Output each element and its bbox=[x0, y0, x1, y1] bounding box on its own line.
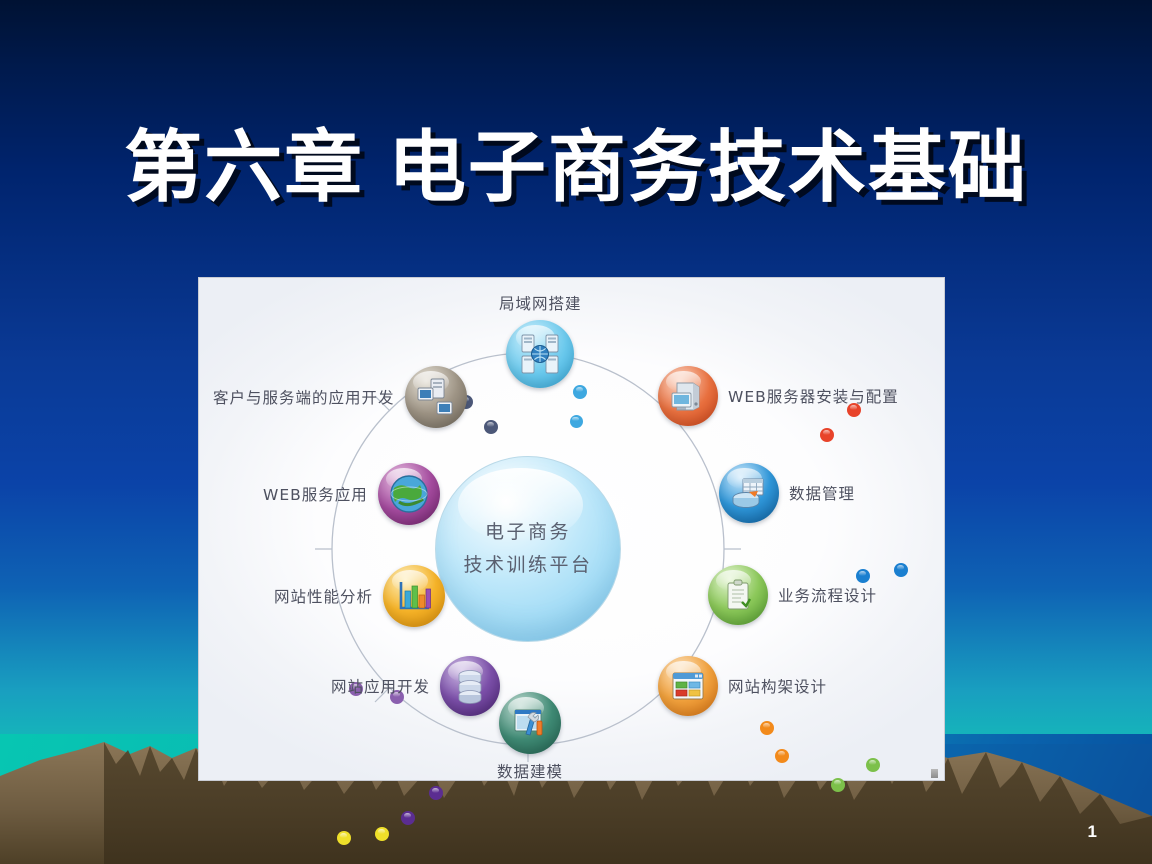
node-label: 数据建模 bbox=[497, 760, 563, 782]
page-number: 1 bbox=[1088, 822, 1097, 842]
window-layout-icon bbox=[658, 656, 718, 716]
node-business-process-design[interactable]: 业务流程设计 bbox=[708, 565, 877, 625]
node-data-management[interactable]: 数据管理 bbox=[719, 463, 855, 523]
network-servers-icon bbox=[506, 320, 574, 388]
connector-dot bbox=[866, 758, 880, 772]
connector-dot bbox=[375, 827, 389, 841]
node-label: WEB服务器安装与配置 bbox=[728, 385, 899, 407]
center-label-line1: 电子商务 bbox=[485, 516, 571, 549]
node-label: 业务流程设计 bbox=[778, 584, 877, 606]
globe-icon bbox=[378, 463, 440, 525]
node-lan-setup[interactable]: 局域网搭建 bbox=[499, 292, 582, 388]
diagram-image-panel[interactable]: 电子商务 技术训练平台 bbox=[199, 278, 944, 780]
connector-dot bbox=[484, 420, 498, 434]
node-label: 数据管理 bbox=[789, 482, 855, 504]
connector-dot bbox=[775, 749, 789, 763]
client-screens-icon bbox=[405, 366, 467, 428]
node-label: 局域网搭建 bbox=[499, 292, 582, 314]
connector-dot bbox=[429, 786, 443, 800]
center-label-line2: 技术训练平台 bbox=[463, 549, 592, 582]
panel-corner-artifact bbox=[931, 769, 938, 778]
tools-window-icon bbox=[499, 692, 561, 754]
connector-dot bbox=[337, 831, 351, 845]
node-website-performance-analysis[interactable]: 网站性能分析 bbox=[274, 565, 445, 627]
node-website-app-development[interactable]: 网站应用开发 bbox=[331, 656, 500, 716]
node-web-service-application[interactable]: WEB服务应用 bbox=[263, 463, 440, 525]
connector-dot bbox=[831, 778, 845, 792]
connector-dot bbox=[401, 811, 415, 825]
database-table-icon bbox=[719, 463, 779, 523]
node-web-server-install[interactable]: WEB服务器安装与配置 bbox=[658, 366, 899, 426]
node-label: 客户与服务端的应用开发 bbox=[213, 386, 395, 408]
page-title: 第六章 电子商务技术基础 bbox=[0, 124, 1152, 211]
connector-dot bbox=[760, 721, 774, 735]
ecommerce-platform-diagram: 电子商务 技术训练平台 bbox=[199, 278, 944, 780]
node-label: 网站性能分析 bbox=[274, 585, 373, 607]
connector-dot bbox=[820, 428, 834, 442]
bar-chart-icon bbox=[383, 565, 445, 627]
node-label: 网站应用开发 bbox=[331, 675, 430, 697]
database-stack-icon bbox=[440, 656, 500, 716]
node-website-architecture-design[interactable]: 网站构架设计 bbox=[658, 656, 827, 716]
node-client-server-app-development[interactable]: 客户与服务端的应用开发 bbox=[213, 366, 467, 428]
node-label: WEB服务应用 bbox=[263, 483, 368, 505]
clipboard-icon bbox=[708, 565, 768, 625]
center-platform-bubble: 电子商务 技术训练平台 bbox=[435, 456, 621, 642]
connector-dot bbox=[894, 563, 908, 577]
web-server-icon bbox=[658, 366, 718, 426]
slide-canvas: 第六章 电子商务技术基础 电子商务 技术训练平台 bbox=[0, 0, 1152, 864]
node-label: 网站构架设计 bbox=[728, 675, 827, 697]
connector-dot bbox=[570, 415, 583, 428]
node-data-modeling[interactable]: 数据建模 bbox=[497, 692, 563, 782]
